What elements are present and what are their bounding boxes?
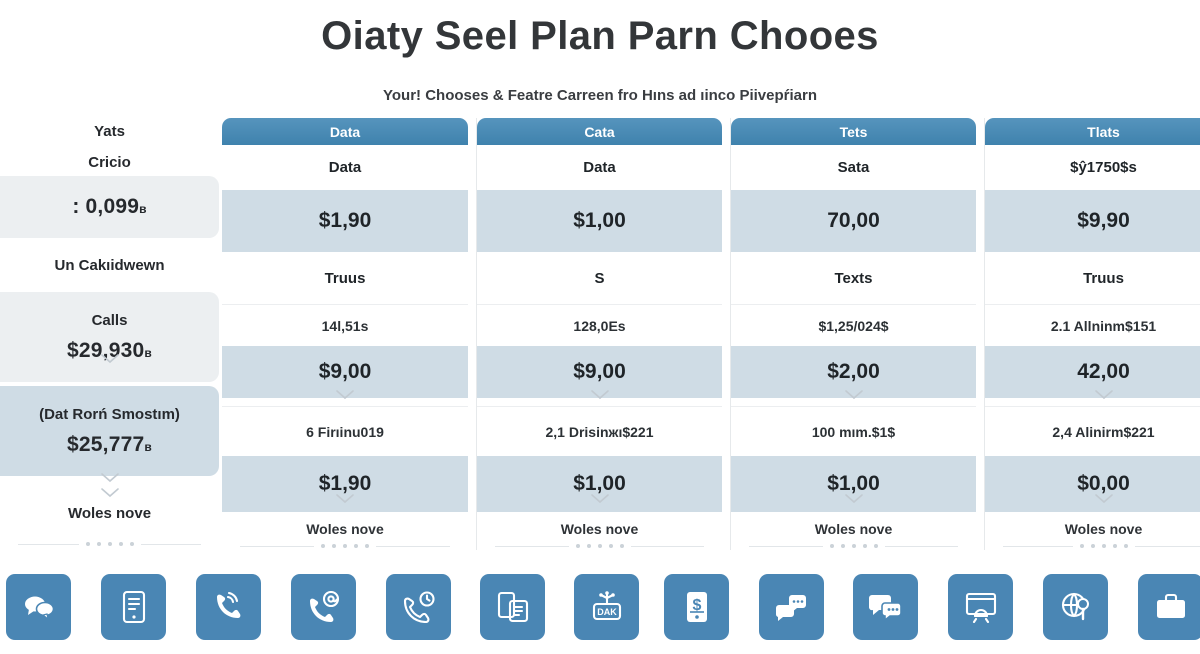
plan-cell-0-3: 14l,51s [222, 304, 468, 346]
rail-cell-3: Calls$29,930в [0, 292, 219, 382]
cell-value: $0,00 [1077, 472, 1130, 496]
phone-at-icon [306, 591, 342, 623]
plan-dotted-divider-2 [749, 541, 958, 551]
plan-cell-1-5: 2,1 Drisinжı$221 [477, 406, 722, 456]
chevron-down-icon [591, 390, 609, 400]
plan-cell-0-2: Truus [222, 252, 468, 304]
pricing-plan-page: Oiaty Seel Plan Parn Chooes Your! Choose… [0, 0, 1200, 654]
plan-cell-3-1: $9,90 [985, 190, 1200, 252]
chat-bubbles-icon [22, 592, 56, 622]
rail-cell-0: YatsCricio [0, 118, 219, 176]
chevron-down-icon [101, 488, 119, 498]
data-box-icon: DAK [589, 591, 625, 623]
cell-value: 2,1 Drisinжı$221 [546, 424, 654, 440]
svg-text:DAK: DAK [597, 607, 617, 617]
plan-dotted-divider-0 [240, 541, 450, 551]
cell-value: $2,00 [827, 360, 880, 384]
cell-value: $1,00 [573, 209, 626, 233]
plan-column-0[interactable]: DataData$1,90Truus14l,51s$9,006 Firıinu0… [222, 118, 468, 550]
icon-tile-phone-signal-icon[interactable] [196, 574, 261, 640]
feature-label-rail: YatsCricio: 0,099вUn CakıidwewnCalls$29,… [0, 118, 219, 550]
plan-header-1: Cata [477, 118, 722, 145]
cell-value: S [594, 270, 604, 287]
chevron-down-icon [591, 494, 609, 504]
chat-dots-icon [775, 592, 809, 622]
plan-footer-2[interactable]: Woles nove [731, 514, 976, 544]
cell-value: Truus [1083, 270, 1124, 287]
plan-footer-0[interactable]: Woles nove [222, 514, 468, 544]
icon-strip: DAK$ [0, 562, 1200, 654]
icon-tile-phone-at-icon[interactable] [291, 574, 356, 640]
plan-footer-1[interactable]: Woles nove [477, 514, 722, 544]
chevron-down-icon [845, 494, 863, 504]
rail-cell-1: : 0,099в [0, 176, 219, 238]
plan-column-1[interactable]: CataData$1,00S128,0Es$9,002,1 Drisinжı$2… [476, 118, 722, 550]
cell-value: $1,00 [573, 472, 626, 496]
rail-cell-4: (Dat Rorń Smostım)$25,777в [0, 386, 219, 476]
cell-value: Data [329, 159, 362, 176]
icon-tile-phone-document-icon[interactable] [101, 574, 166, 640]
chevron-down-icon [101, 473, 119, 483]
icon-tile-message-dots-icon[interactable] [853, 574, 918, 640]
plan-dotted-divider-3 [1003, 541, 1200, 551]
icon-tile-phone-clock-icon[interactable] [386, 574, 451, 640]
plan-header-2: Tets [731, 118, 976, 145]
plan-cell-2-3: $1,25/024$ [731, 304, 976, 346]
plan-cell-3-0: $ŷ1750$s [985, 145, 1200, 190]
icon-tile-screen-window-icon[interactable] [948, 574, 1013, 640]
plan-cell-3-2: Truus [985, 252, 1200, 304]
chevron-down-icon [336, 494, 354, 504]
comparison-table: YatsCricio: 0,099вUn CakıidwewnCalls$29,… [0, 118, 1200, 550]
icon-tile-chat-bubbles-icon[interactable] [6, 574, 71, 640]
plan-column-3[interactable]: Tlats$ŷ1750$s$9,90Truus2.1 Allninm$15142… [984, 118, 1200, 550]
plan-column-2[interactable]: TetsSata70,00Texts$1,25/024$$2,00100 mım… [730, 118, 976, 550]
cell-value: $ŷ1750$s [1070, 159, 1137, 176]
rail-dotted-divider [18, 539, 201, 549]
cell-value: 100 mım.$1$ [812, 424, 895, 440]
plan-header-0: Data [222, 118, 468, 145]
screen-window-icon [964, 591, 998, 623]
plan-cell-2-5: 100 mım.$1$ [731, 406, 976, 456]
cell-value: $1,00 [827, 472, 880, 496]
phone-dollar-icon: $ [684, 590, 710, 624]
plan-cell-0-0: Data [222, 145, 468, 190]
plan-cell-0-5: 6 Firıinu019 [222, 406, 468, 456]
cell-value: 6 Firıinu019 [306, 424, 384, 440]
cell-value: 42,00 [1077, 360, 1130, 384]
rail-label: (Dat Rorń Smostım) [39, 406, 180, 423]
page-title: Oiaty Seel Plan Parn Chooes [0, 14, 1200, 59]
rail-label: Yats [94, 123, 125, 140]
chevron-down-icon [101, 354, 119, 364]
globe-search-icon [1059, 591, 1093, 623]
rail-cell-5: Woles nove [0, 496, 219, 530]
icon-tile-phone-dollar-icon[interactable]: $ [664, 574, 729, 640]
cell-value: $1,90 [319, 209, 372, 233]
briefcase-icon [1154, 592, 1188, 622]
phone-signal-icon [211, 591, 247, 623]
rail-label: Un Cakıidwewn [54, 257, 164, 274]
plan-cell-3-3: 2.1 Allninm$151 [985, 304, 1200, 346]
plan-cell-1-3: 128,0Es [477, 304, 722, 346]
cell-value: Texts [834, 270, 872, 287]
cell-value: Truus [325, 270, 366, 287]
rail-sublabel: Cricio [88, 154, 131, 171]
chevron-down-icon [1095, 494, 1113, 504]
phone-clock-icon [401, 591, 437, 623]
cell-value: Data [583, 159, 616, 176]
cell-value: 128,0Es [573, 318, 625, 334]
plan-cell-2-0: Sata [731, 145, 976, 190]
cell-value: $1,25/024$ [818, 318, 888, 334]
two-devices-icon [496, 590, 530, 624]
icon-tile-globe-search-icon[interactable] [1043, 574, 1108, 640]
icon-tile-chat-dots-icon[interactable] [759, 574, 824, 640]
rail-value: : 0,099в [72, 195, 146, 219]
plan-cell-3-5: 2,4 Alinirm$221 [985, 406, 1200, 456]
cell-value: 70,00 [827, 209, 880, 233]
cell-value: Sata [838, 159, 870, 176]
cell-value: $1,90 [319, 472, 372, 496]
rail-value: $25,777в [67, 433, 152, 457]
plan-cell-3-4: 42,00 [985, 346, 1200, 398]
cell-value: 2,4 Alinirm$221 [1052, 424, 1154, 440]
rail-cell-2: Un Cakıidwewn [0, 242, 219, 288]
icon-tile-two-devices-icon[interactable] [480, 574, 545, 640]
rail-label: Woles nove [68, 505, 151, 522]
chevron-down-icon [336, 390, 354, 400]
plan-cell-2-2: Texts [731, 252, 976, 304]
plan-cell-1-1: $1,00 [477, 190, 722, 252]
plan-cell-1-0: Data [477, 145, 722, 190]
plan-dotted-divider-1 [495, 541, 704, 551]
plan-footer-3[interactable]: Woles nove [985, 514, 1200, 544]
plan-cell-1-2: S [477, 252, 722, 304]
cell-value: $9,00 [573, 360, 626, 384]
icon-tile-data-box-icon[interactable]: DAK [574, 574, 639, 640]
chevron-down-icon [845, 390, 863, 400]
cell-value: 14l,51s [322, 318, 369, 334]
rail-label: Calls [92, 312, 128, 329]
cell-value: $9,90 [1077, 209, 1130, 233]
page-subtitle: Your! Chooses & Featre Carreen fro Hıns … [0, 87, 1200, 104]
plan-columns: DataData$1,90Truus14l,51s$9,006 Firıinu0… [222, 118, 1200, 550]
plan-cell-2-1: 70,00 [731, 190, 976, 252]
cell-value: $9,00 [319, 360, 372, 384]
plan-cell-0-1: $1,90 [222, 190, 468, 252]
plan-header-3: Tlats [985, 118, 1200, 145]
chevron-down-icon [1095, 390, 1113, 400]
plan-cell-3-6: $0,00 [985, 456, 1200, 512]
message-dots-icon [868, 592, 904, 622]
cell-value: 2.1 Allninm$151 [1051, 318, 1156, 334]
phone-document-icon [120, 590, 148, 624]
icon-tile-briefcase-icon[interactable] [1138, 574, 1200, 640]
